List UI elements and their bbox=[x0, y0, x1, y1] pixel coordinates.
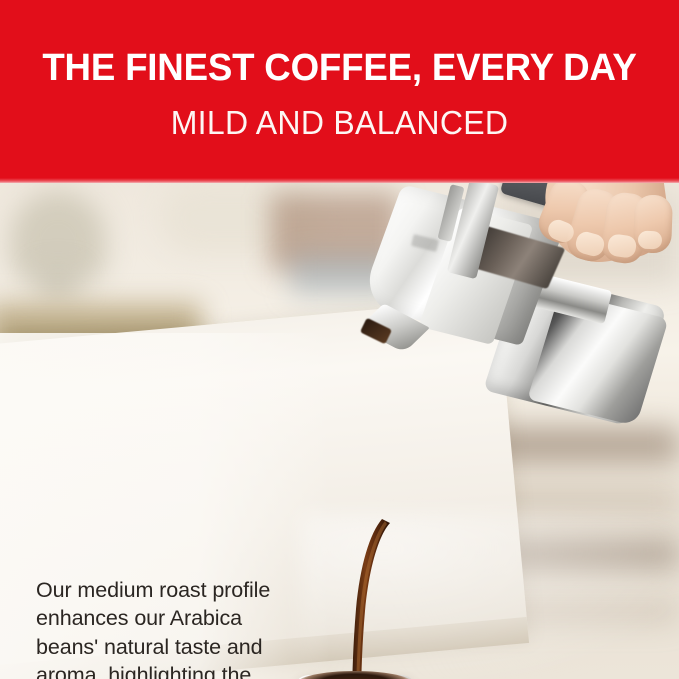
background-jar-stem bbox=[38, 269, 78, 295]
product-banner: THE FINEST COFFEE, EVERY DAY MILD AND BA… bbox=[0, 0, 679, 679]
moka-pot bbox=[360, 183, 679, 473]
product-photo: illy Our medium roast profile enhances o… bbox=[0, 183, 679, 679]
body-paragraph: Our medium roast profile enhances our Ar… bbox=[36, 576, 304, 679]
header-banner: THE FINEST COFFEE, EVERY DAY MILD AND BA… bbox=[0, 0, 679, 183]
page-title: THE FINEST COFFEE, EVERY DAY bbox=[12, 47, 667, 89]
coffee-pour-stream bbox=[330, 513, 400, 679]
fingernail bbox=[638, 231, 663, 250]
page-subtitle: MILD AND BALANCED bbox=[10, 104, 669, 142]
